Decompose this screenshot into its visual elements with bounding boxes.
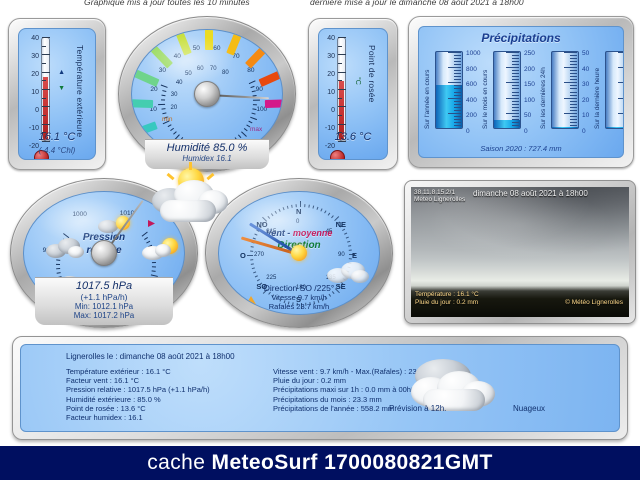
humidity-arc-segment bbox=[131, 98, 153, 108]
exterior-thermo-ticks bbox=[41, 37, 50, 141]
titlebar-timestamp: 1700080821GMT bbox=[324, 451, 493, 474]
summary-heading: Lignerolles le : dimanche 08 août 2021 à… bbox=[66, 352, 235, 361]
thermo-scale-tick: 40 bbox=[327, 35, 335, 42]
precipitation-title: Précipitations bbox=[419, 31, 623, 45]
dewpoint-value: 13.6 °C bbox=[319, 131, 387, 143]
webcam-stamp-line2: Meteo Lignerolles bbox=[414, 196, 465, 204]
wind-title-b: moyenne bbox=[293, 228, 333, 238]
summary-line: Température extérieur : 16.1 °C bbox=[66, 367, 210, 376]
humidity-scale-label: 20 bbox=[150, 86, 157, 93]
humidity-value: Humidité 85.0 % bbox=[145, 142, 269, 154]
pressure-max: Max: 1017.2 hPa bbox=[35, 311, 173, 320]
webcam-copyright: © Météo Lignerolles bbox=[565, 299, 623, 307]
rain-gauge-label: Sur la dernière heure bbox=[594, 51, 601, 129]
wind-degree-label: 270 bbox=[254, 252, 264, 258]
humidity-max-marker: max bbox=[250, 126, 262, 133]
wind-gust-value: Rafales 23.7 km/h bbox=[206, 302, 392, 311]
humidity-inner-label: 80 bbox=[222, 70, 229, 76]
precipitation-panel[interactable]: Précipitations Sur l'année en cours10008… bbox=[408, 16, 634, 168]
humidity-gauge[interactable]: 10203040506070809010020304050607080 min … bbox=[118, 16, 296, 172]
titlebar-cache: cache bbox=[147, 451, 211, 474]
weather-dashboard: Graphique mis à jour toutes les 10 minut… bbox=[0, 0, 640, 480]
dewpoint-gauge[interactable]: 403020100-10-20 Point de rosée °C 13.6 °… bbox=[308, 18, 398, 170]
pressure-trend: (+1.1 hPa/h) bbox=[35, 292, 173, 302]
dewpoint-unit: °C bbox=[354, 77, 361, 85]
pressure-min: Min: 1012.1 hPa bbox=[35, 302, 173, 311]
thermo-scale-tick: -20 bbox=[325, 143, 335, 150]
thermo-scale-tick: 40 bbox=[31, 35, 39, 42]
dewpoint-thermo-ticks bbox=[337, 37, 346, 141]
rain-gauge-scale: 10008006004002000 bbox=[466, 48, 494, 132]
titlebar-site: MeteoSurf bbox=[212, 451, 325, 474]
humidity-inner-label: 30 bbox=[171, 92, 178, 98]
humidity-inner-label: 60 bbox=[197, 66, 204, 72]
humidity-arc-segment bbox=[205, 29, 213, 50]
summary-line: Point de rosée : 13.6 °C bbox=[66, 404, 210, 413]
rain-gauge-label: Sur les dernières 24h bbox=[540, 51, 547, 129]
humidity-scale-label: 50 bbox=[193, 45, 200, 52]
rain-cloud-icon bbox=[46, 236, 86, 260]
humidity-inner-label: 40 bbox=[176, 80, 183, 86]
cloud-sun-icon bbox=[98, 214, 134, 236]
exterior-thermo-label: Température extérieure bbox=[75, 45, 85, 137]
webcam-image: 38.11.8.15.2/1 Meteo Lignerolles dimanch… bbox=[411, 187, 629, 317]
wind-degree-label: 0 bbox=[296, 219, 299, 225]
rain-tube bbox=[493, 51, 521, 129]
precipitation-season-note: Saison 2020 : 727.4 mm bbox=[419, 144, 623, 153]
humidity-arc-segment bbox=[265, 98, 283, 108]
humidity-arc-segment bbox=[131, 29, 173, 68]
exterior-max-marker: ▲ bbox=[58, 69, 65, 76]
humidity-scale-label: 40 bbox=[174, 53, 181, 60]
barometer-hub bbox=[91, 240, 117, 266]
wind-title-a: Vent - bbox=[266, 228, 291, 238]
partly-sunny-icon bbox=[142, 238, 182, 262]
rain-tube bbox=[551, 51, 579, 129]
exterior-temperature-windchill: (-4.4 °Chl) bbox=[19, 146, 95, 155]
wind-cardinal-O: O bbox=[240, 251, 246, 260]
update-note-left: Graphique mis à jour toutes les 10 minut… bbox=[84, 0, 250, 7]
thermo-scale-tick: 0 bbox=[35, 107, 39, 114]
forecast-value: Nuageux bbox=[513, 404, 545, 413]
humidity-arc-segment bbox=[245, 29, 283, 68]
exterior-temperature-value: 16.1 °C bbox=[19, 131, 95, 143]
humidity-inner-label: 50 bbox=[185, 71, 192, 77]
rain-gauge-value: 0.2 mm bbox=[543, 157, 595, 158]
wind-speed-value: Vitesse 9.7 km/h bbox=[206, 293, 392, 302]
humidity-scale-label: 60 bbox=[213, 45, 220, 52]
wind-degree-label: 225 bbox=[266, 275, 276, 281]
humidity-arc-segment bbox=[259, 54, 283, 87]
rain-gauge-scale: 250200150100500 bbox=[524, 48, 552, 132]
summary-line: Facteur vent : 16.1 °C bbox=[66, 376, 210, 385]
thermo-scale-tick: 10 bbox=[327, 89, 335, 96]
rain-gauge-sur-les-dernieres-24h[interactable]: Sur les dernières 24h504030201000.2 mm bbox=[551, 51, 579, 129]
webcam-datetime: dimanche 08 août 2021 à 18h00 bbox=[473, 190, 588, 198]
rain-tube bbox=[435, 51, 463, 129]
summary-line: Facteur humidex : 16.1 bbox=[66, 413, 210, 422]
center-weather-icon bbox=[152, 168, 236, 230]
wind-readout-panel: Direction SO /225° Vitesse 9.7 km/h Rafa… bbox=[206, 283, 392, 311]
thermo-scale-tick: 0 bbox=[331, 107, 335, 114]
wind-direction-value: Direction SO /225° bbox=[206, 283, 392, 293]
humidity-hub bbox=[194, 81, 220, 107]
humidity-arc-segment bbox=[226, 29, 257, 56]
webcam-rain: Pluie du jour : 0.2 mm bbox=[415, 299, 478, 307]
humidity-readout-panel: Humidité 85.0 % Humidex 16.1 bbox=[145, 139, 269, 169]
rain-gauge-value: 0.2 mm bbox=[597, 157, 624, 158]
summary-left-column: Température extérieur : 16.1 °CFacteur v… bbox=[66, 367, 210, 422]
thermo-scale-tick: 10 bbox=[31, 89, 39, 96]
summary-line: Humidité extérieure : 85.0 % bbox=[66, 395, 210, 404]
barometer-readout-panel: 1017.5 hPa (+1.1 hPa/h) Min: 1012.1 hPa … bbox=[35, 277, 173, 325]
humidity-min-marker: min bbox=[162, 116, 172, 123]
wind-hub-icon bbox=[291, 245, 307, 261]
summary-panel[interactable]: Lignerolles le : dimanche 08 août 2021 à… bbox=[12, 336, 628, 440]
wind-cardinal-N: N bbox=[296, 207, 301, 216]
humidity-arc-segment bbox=[161, 29, 192, 56]
humidex-value: Humidex 16.1 bbox=[145, 154, 269, 163]
rain-gauge-label: Sur le mois en cours bbox=[482, 51, 489, 129]
wind-cardinal-NO: NO bbox=[256, 220, 267, 229]
dewpoint-thermo-scale: 403020100-10-20 bbox=[318, 35, 335, 143]
dewpoint-thermo-bulb bbox=[330, 150, 345, 160]
rain-tube bbox=[605, 51, 624, 129]
summary-line: Pression relative : 1017.5 hPa (+1.1 hPa… bbox=[66, 385, 210, 394]
humidity-inner-label: 20 bbox=[171, 105, 178, 111]
rain-gauge-sur-le-mois-en-cours[interactable]: Sur le mois en cours25020015010050023.8 … bbox=[493, 51, 521, 129]
webcam-panel[interactable]: 38.11.8.15.2/1 Meteo Lignerolles dimanch… bbox=[404, 180, 636, 324]
rain-gauge-label: Sur l'année en cours bbox=[424, 51, 431, 129]
forecast-label: Prévision à 12h. bbox=[389, 404, 446, 413]
thermo-scale-tick: 20 bbox=[327, 71, 335, 78]
humidity-arc-segment bbox=[131, 54, 159, 87]
rain-gauge-sur-l-annee-en-cours[interactable]: Sur l'année en cours10008006004002000558… bbox=[435, 51, 463, 129]
humidity-scale-label: 30 bbox=[159, 67, 166, 74]
dewpoint-thermo-label: Point de rosée bbox=[367, 45, 377, 103]
humidity-inner-label: 70 bbox=[210, 66, 217, 72]
rain-gauge-value: 23.8 mm bbox=[485, 157, 537, 158]
pressure-value: 1017.5 hPa bbox=[35, 280, 173, 292]
exterior-thermo-scale: 403020100-10-20 bbox=[18, 35, 39, 143]
exterior-min-marker: ▼ bbox=[58, 85, 65, 92]
thermo-scale-tick: 30 bbox=[31, 53, 39, 60]
update-note-right: dernière mise à jour le dimanche 08 août… bbox=[310, 0, 524, 7]
thermo-scale-tick: 30 bbox=[327, 53, 335, 60]
wind-degree-label: 315 bbox=[266, 229, 276, 235]
rain-gauge-value: 558.2 mm bbox=[427, 157, 479, 158]
bottom-title-bar: cache MeteoSurf 1700080821GMT bbox=[0, 446, 640, 480]
thermo-scale-tick: 20 bbox=[31, 71, 39, 78]
rain-gauge-sur-la-derniere-heure[interactable]: Sur la dernière heure25201510500.2 mm bbox=[605, 51, 624, 129]
exterior-temperature-gauge[interactable]: 403020100-10-20 Température extérieure ▲… bbox=[8, 18, 106, 170]
barometer-scale-label: 1000 bbox=[72, 211, 86, 218]
webcam-temperature: Température : 16.1 °C bbox=[415, 291, 479, 299]
